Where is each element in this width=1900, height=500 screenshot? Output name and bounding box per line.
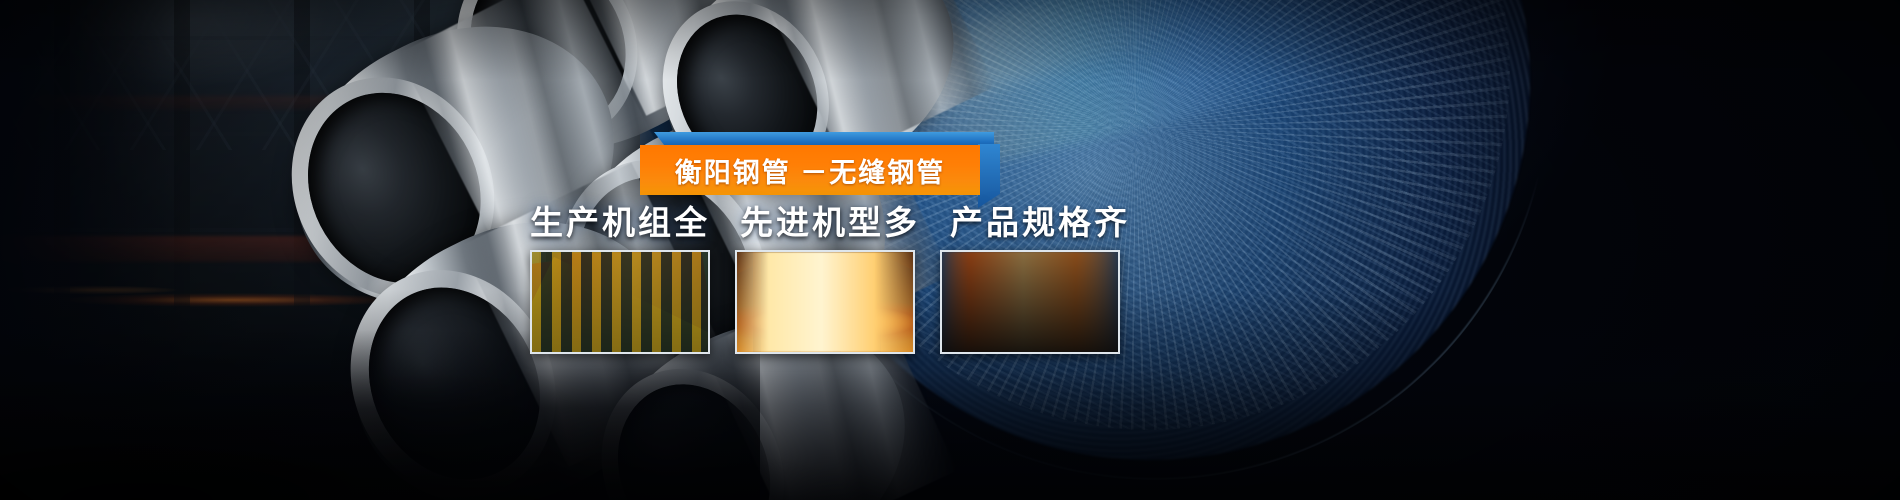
headline-phrase-1: 生产机组全 [530, 196, 710, 244]
thumbnail-steel-mill-hall-hot-bars[interactable] [940, 250, 1120, 354]
headline-phrase-3: 产品规格齐 [950, 196, 1130, 244]
headline-phrase-2: 先进机型多 [740, 196, 920, 244]
badge-label: 衡阳钢管 －无缝钢管 [675, 151, 946, 190]
banner-content: 衡阳钢管 －无缝钢管 生产机组全 先进机型多 产品规格齐 [0, 0, 1900, 500]
thumbnail-rolling-mill-production-line[interactable] [530, 250, 710, 354]
promotional-banner: 衡阳钢管 －无缝钢管 生产机组全 先进机型多 产品规格齐 [0, 0, 1900, 500]
thumbnail-row [530, 250, 1120, 354]
headline: 生产机组全 先进机型多 产品规格齐 [530, 196, 1130, 244]
badge-body[interactable]: 衡阳钢管 －无缝钢管 [640, 145, 980, 195]
thumbnail-hot-furnace-billet[interactable] [735, 250, 915, 354]
